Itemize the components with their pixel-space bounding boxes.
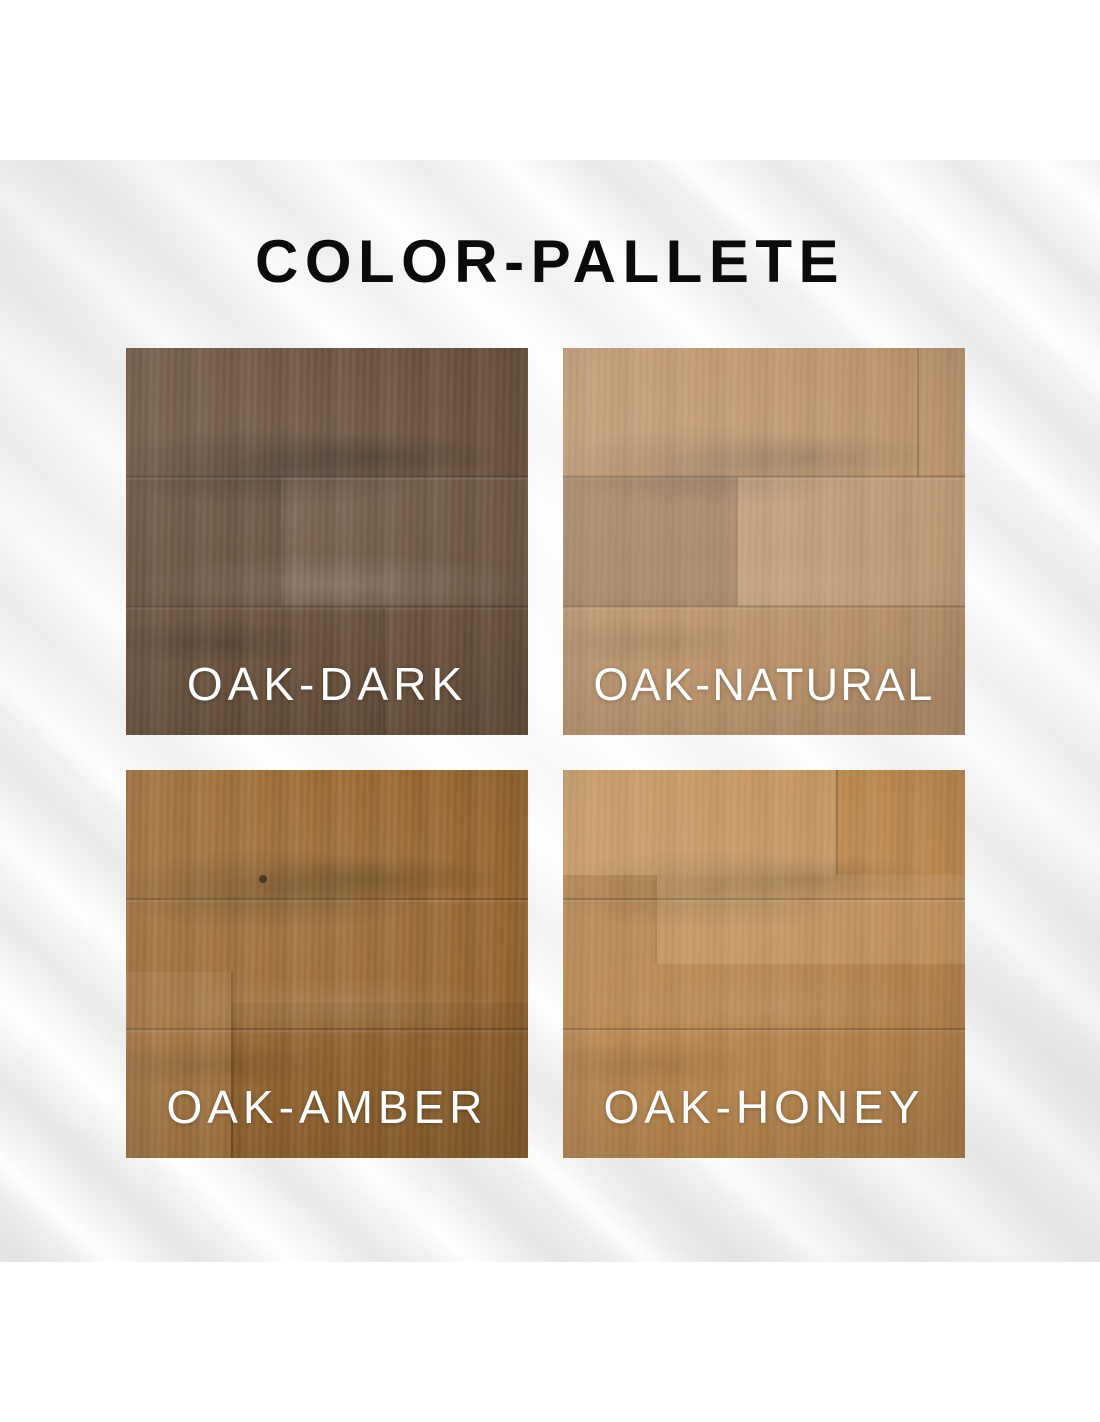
swatch-label-oak-dark: OAK-DARK: [126, 661, 528, 707]
page-title: COLOR-PALLETE: [0, 232, 1100, 292]
swatch-label-oak-amber: OAK-AMBER: [126, 1084, 528, 1130]
plank-board: [736, 477, 965, 605]
plank-board: [563, 875, 655, 964]
swatch-oak-amber[interactable]: OAK-AMBER: [126, 770, 528, 1158]
swatch-oak-dark[interactable]: OAK-DARK: [126, 348, 528, 735]
plank-joint: [836, 770, 838, 875]
wood-knot: [259, 875, 267, 883]
swatch-oak-natural[interactable]: OAK-NATURAL: [563, 348, 965, 735]
plank-board: [126, 477, 279, 605]
plank-board: [655, 875, 965, 964]
swatch-oak-honey[interactable]: OAK-HONEY: [563, 770, 965, 1158]
swatch-label-oak-natural: OAK-NATURAL: [563, 662, 965, 707]
plank-joint: [655, 875, 657, 964]
plank-joint: [917, 348, 919, 477]
plank-board: [563, 770, 836, 875]
plank-joint: [279, 477, 281, 605]
swatch-grid: OAK-DARK OAK-NATURAL OAK-AMBER: [126, 348, 965, 1158]
plank-board: [563, 477, 736, 605]
color-palette-poster: COLOR-PALLETE OAK-DARK OAK-NATU: [0, 0, 1100, 1422]
plank-joint: [736, 477, 738, 605]
swatch-label-oak-honey: OAK-HONEY: [563, 1084, 965, 1130]
plank-board: [279, 477, 528, 605]
